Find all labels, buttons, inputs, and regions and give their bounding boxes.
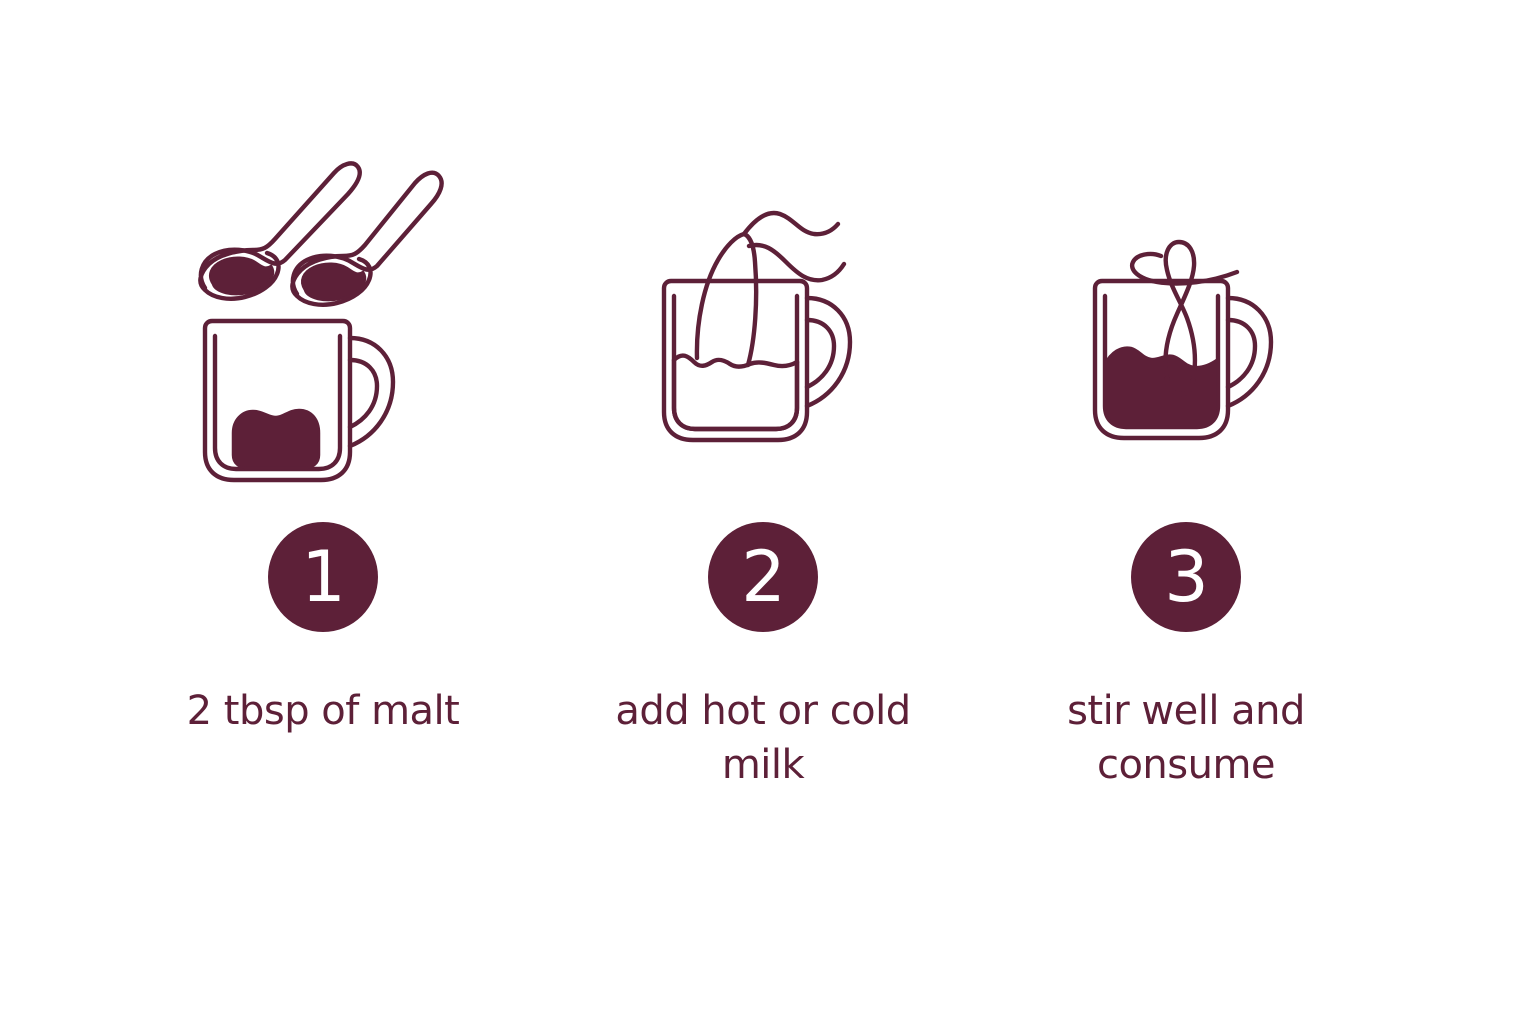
step-item-1: 1 2 tbsp of malt [123, 150, 523, 738]
step-number-1: 1 [301, 542, 345, 612]
two-spoons-over-mug-icon [193, 160, 453, 490]
step-2-icon-wrap [648, 150, 878, 490]
step-1-icon-wrap [193, 150, 453, 490]
step-caption-3: stir well and consume [1036, 684, 1336, 792]
step-number-3: 3 [1164, 542, 1208, 612]
infographic-canvas: 1 2 tbsp of malt [0, 0, 1536, 1024]
step-number-2: 2 [741, 542, 785, 612]
steps-row: 1 2 tbsp of malt [110, 150, 1410, 792]
step-badge-2: 2 [708, 522, 818, 632]
step-caption-1: 2 tbsp of malt [187, 684, 460, 738]
stirring-spoon-in-mug-icon [1081, 160, 1291, 490]
step-badge-1: 1 [268, 522, 378, 632]
step-item-2: 2 add hot or cold milk [553, 150, 973, 792]
step-caption-2: add hot or cold milk [598, 684, 928, 792]
step-badge-3: 3 [1131, 522, 1241, 632]
step-3-icon-wrap [1081, 150, 1291, 490]
pouring-milk-into-mug-icon [648, 160, 878, 490]
step-item-3: 3 stir well and consume [1001, 150, 1371, 792]
